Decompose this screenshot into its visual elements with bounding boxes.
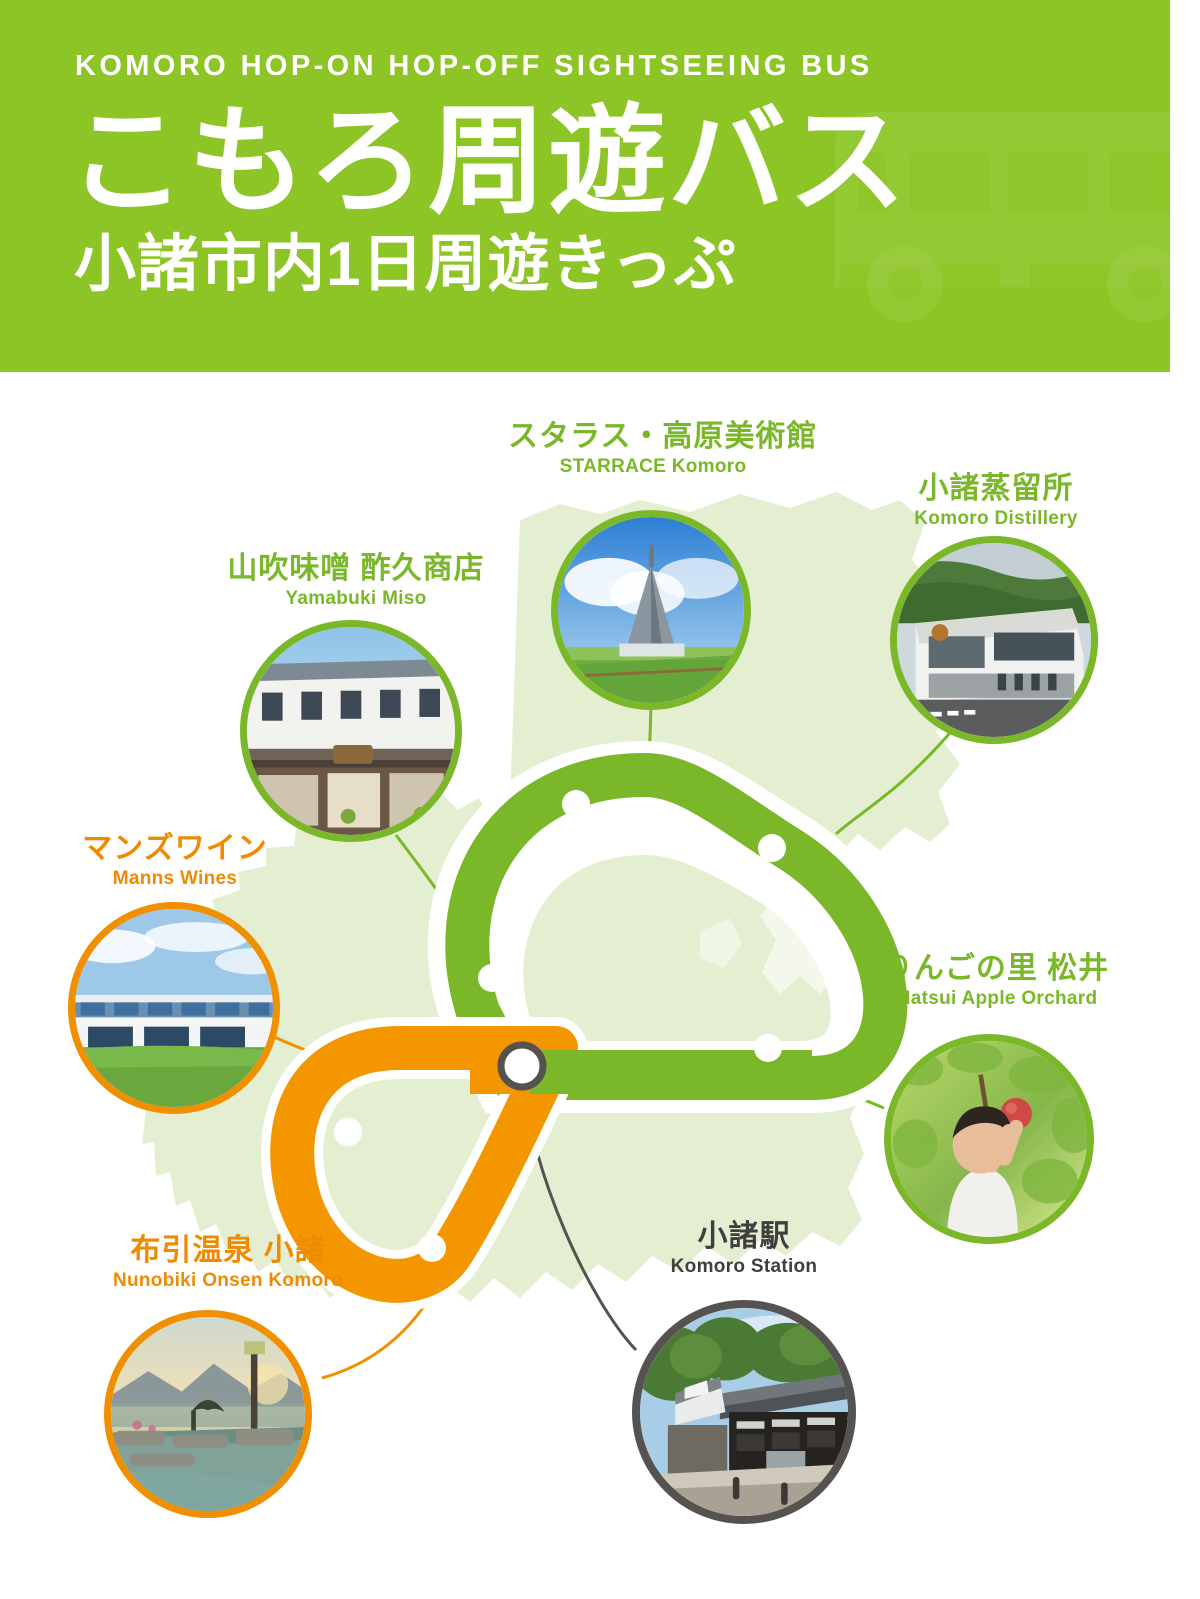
header-eyebrow: KOMORO HOP-ON HOP-OFF SIGHTSEEING BUS (75, 50, 873, 83)
stop-dot (334, 1118, 362, 1146)
poi-photo-nunobiki[interactable] (104, 1310, 312, 1518)
poi-label-matsui: りんごの里 松井 Matsui Apple Orchard (844, 952, 1148, 1009)
poi-en-yamabuki: Yamabuki Miso (200, 588, 512, 609)
poi-en-manns: Manns Wines (40, 868, 310, 889)
manns-photo (75, 909, 273, 1107)
yamabuki-photo (247, 627, 455, 835)
route-map: スタラス・高原美術館 STARRACE Komoro 小諸蒸留所 Komoro … (0, 372, 1200, 1599)
stop-dot (562, 790, 590, 818)
station-photo (640, 1308, 848, 1516)
stop-dot (758, 834, 786, 862)
poi-photo-yamabuki[interactable] (240, 620, 462, 842)
poi-label-manns: マンズワイン Manns Wines (40, 832, 310, 889)
route-hub-node (501, 1045, 543, 1087)
header-banner: KOMORO HOP-ON HOP-OFF SIGHTSEEING BUS こも… (0, 0, 1170, 372)
nunobiki-photo (111, 1317, 305, 1511)
stop-dot (478, 964, 506, 992)
distillery-photo (897, 543, 1091, 737)
poi-en-nunobiki: Nunobiki Onsen Komoro (78, 1270, 378, 1291)
poi-jp-station: 小諸駅 (614, 1220, 874, 1254)
poi-photo-matsui[interactable] (884, 1034, 1094, 1244)
poi-label-starrace: スタラス・高原美術館 STARRACE Komoro (508, 420, 798, 477)
poi-jp-nunobiki: 布引温泉 小諸 (78, 1234, 378, 1268)
poi-jp-yamabuki: 山吹味噌 酢久商店 (200, 552, 512, 586)
header-subtitle: 小諸市内1日周遊きっぷ (74, 231, 737, 299)
poi-photo-starrace[interactable] (551, 510, 751, 710)
poi-photo-station[interactable] (632, 1300, 856, 1524)
poi-en-station: Komoro Station (614, 1256, 874, 1277)
poi-label-yamabuki: 山吹味噌 酢久商店 Yamabuki Miso (200, 552, 512, 609)
poi-en-distillery: Komoro Distillery (866, 508, 1126, 529)
poi-en-matsui: Matsui Apple Orchard (844, 988, 1148, 1009)
page-title: こもろ周遊バス (68, 96, 908, 228)
stop-dot (418, 1234, 446, 1262)
matsui-photo (891, 1041, 1087, 1237)
poi-jp-starrace: スタラス・高原美術館 (508, 420, 798, 454)
poi-jp-matsui: りんごの里 松井 (844, 952, 1148, 986)
starrace-photo (558, 517, 744, 703)
poi-label-distillery: 小諸蒸留所 Komoro Distillery (866, 472, 1126, 529)
poi-jp-manns: マンズワイン (40, 832, 310, 866)
poi-en-starrace: STARRACE Komoro (508, 456, 798, 477)
poi-photo-manns[interactable] (68, 902, 280, 1114)
poi-label-nunobiki: 布引温泉 小諸 Nunobiki Onsen Komoro (78, 1234, 378, 1291)
stop-dot (754, 1034, 782, 1062)
poi-photo-distillery[interactable] (890, 536, 1098, 744)
poi-jp-distillery: 小諸蒸留所 (866, 472, 1126, 506)
poi-label-station: 小諸駅 Komoro Station (614, 1220, 874, 1277)
